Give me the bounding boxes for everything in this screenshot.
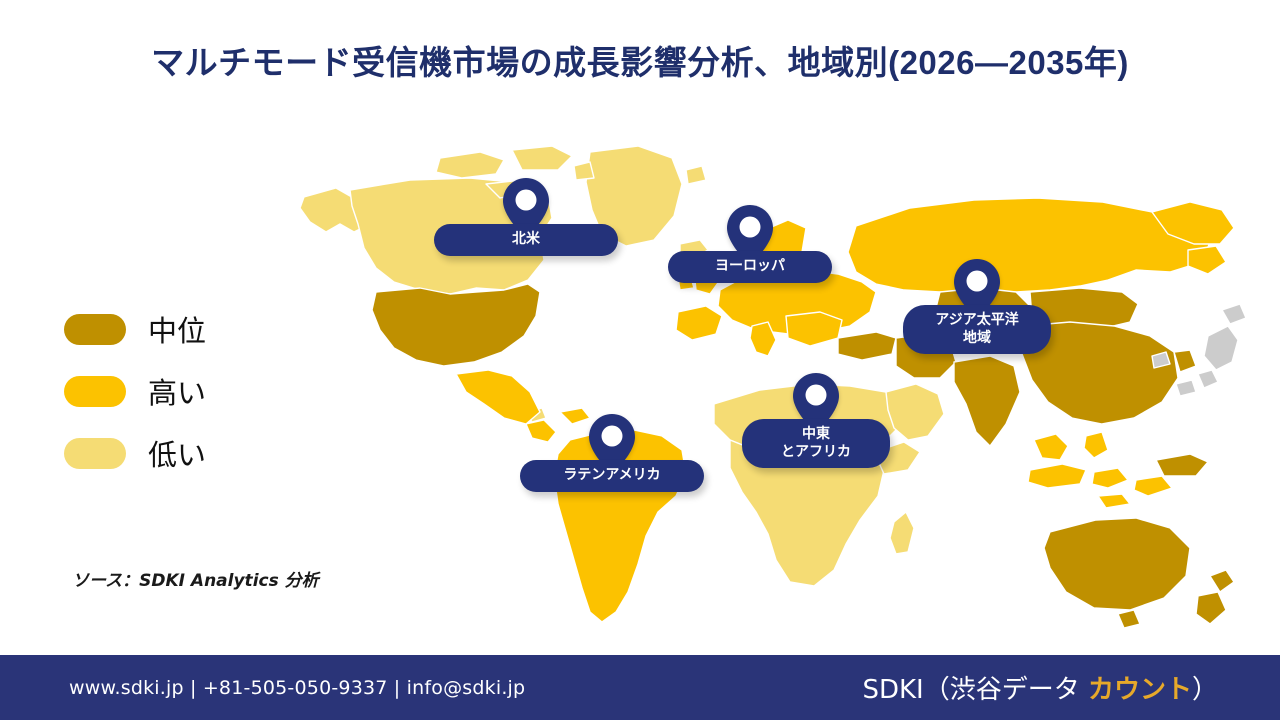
source-note: ソース：SDKI Analytics 分析 xyxy=(72,566,319,591)
map-pin-label-latin-america: ラテンアメリカ xyxy=(520,460,704,492)
legend-label-medium: 中位 xyxy=(148,308,206,350)
map-pin-asia-pacific[interactable]: アジア太平洋 地域 xyxy=(903,259,1051,354)
legend-swatch-low xyxy=(64,438,126,469)
legend-item-low: 低い xyxy=(64,432,206,474)
map-pin-label-line-1: 中東 xyxy=(802,426,830,442)
map-legend: 中位 高い 低い xyxy=(64,308,206,474)
footer-brand: SDKI（渋谷データ カウント） xyxy=(862,669,1218,706)
map-pin-label-middle-east-africa: 中東 とアフリカ xyxy=(742,419,890,468)
footer-brand-accent: カウント xyxy=(1088,675,1192,705)
map-pin-europe[interactable]: ヨーロッパ xyxy=(668,205,832,283)
footer-bar: www.sdki.jp | +81-505-050-9337 | info@sd… xyxy=(0,655,1280,720)
legend-swatch-high xyxy=(64,376,126,407)
map-pin-label-europe: ヨーロッパ xyxy=(668,251,832,283)
legend-swatch-medium xyxy=(64,314,126,345)
page-title: マルチモード受信機市場の成長影響分析、地域別(2026—2035年) xyxy=(0,36,1280,84)
legend-item-high: 高い xyxy=(64,370,206,412)
map-pin-latin-america[interactable]: ラテンアメリカ xyxy=(520,414,704,492)
map-pin-label-asia-pacific: アジア太平洋 地域 xyxy=(903,305,1051,354)
legend-label-low: 低い xyxy=(148,432,206,474)
legend-label-high: 高い xyxy=(148,370,206,412)
footer-contact-info[interactable]: www.sdki.jp | +81-505-050-9337 | info@sd… xyxy=(69,677,525,699)
legend-item-medium: 中位 xyxy=(64,308,206,350)
footer-brand-prefix: SDKI（渋谷データ xyxy=(862,675,1088,705)
map-pin-label-line-2: とアフリカ xyxy=(781,444,851,460)
map-pin-label-north-america: 北米 xyxy=(434,224,618,256)
map-pin-label-line-1: アジア太平洋 xyxy=(935,312,1018,328)
map-pin-north-america[interactable]: 北米 xyxy=(434,178,618,256)
map-pin-middle-east-africa[interactable]: 中東 とアフリカ xyxy=(742,373,890,468)
footer-brand-suffix: ） xyxy=(1192,675,1218,705)
map-pin-label-line-2: 地域 xyxy=(963,330,991,346)
